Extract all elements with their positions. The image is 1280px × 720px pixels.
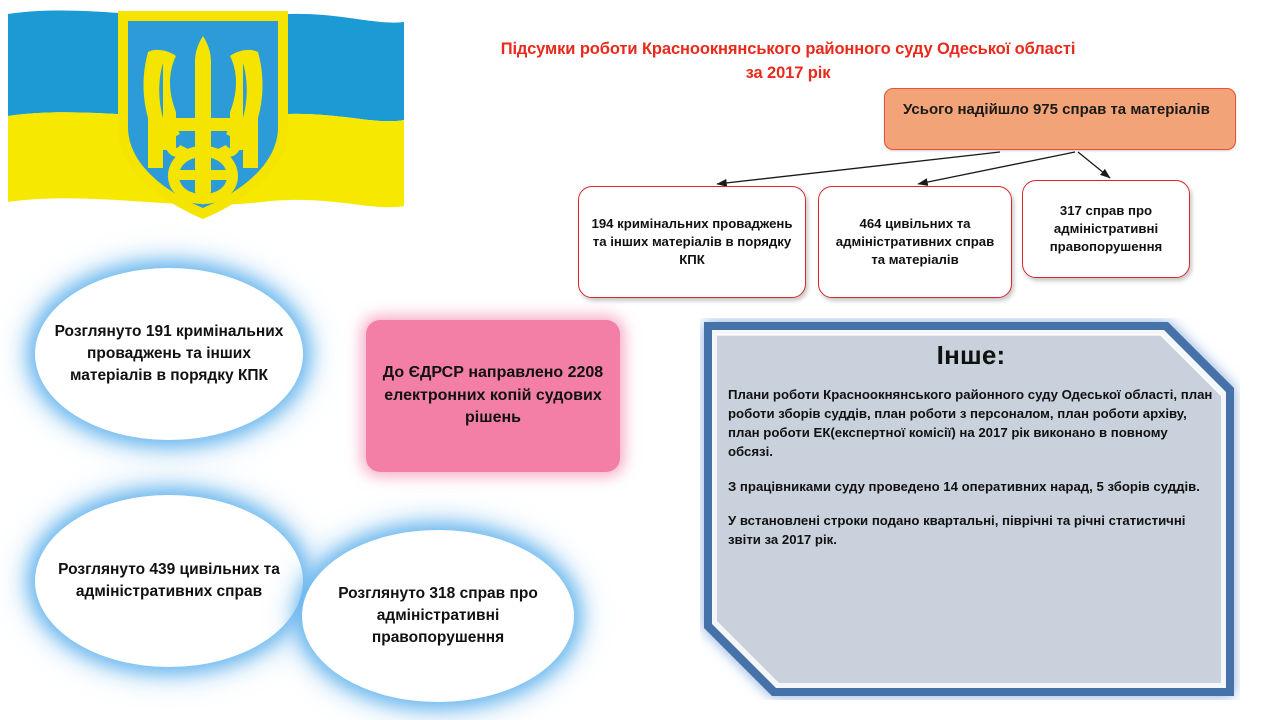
reviewed-ellipse-admin: Розглянуто 318 справ про адміністративні…	[302, 530, 574, 702]
other-panel-heading: Інше:	[728, 340, 1214, 371]
reviewed-ellipse-criminal: Розглянуто 191 кримінальних проваджень т…	[35, 268, 303, 440]
arrow-to-criminal	[717, 152, 1000, 184]
reviewed-ellipse-admin-label: Розглянуто 318 справ про адміністративні…	[318, 583, 558, 648]
reviewed-ellipse-criminal-label: Розглянуто 191 кримінальних проваджень т…	[51, 321, 287, 386]
category-box-civil: 464 цивільних та адміністративних справ …	[818, 186, 1012, 298]
page-title: Підсумки роботи Красноокнянського районн…	[398, 38, 1178, 86]
other-paragraph-2: З працівниками суду проведено 14 операти…	[728, 477, 1214, 496]
category-box-civil-label: 464 цивільних та адміністративних справ …	[828, 215, 1002, 270]
other-paragraph-1: Плани роботи Красноокнянського районного…	[728, 385, 1214, 462]
reviewed-ellipse-civil-label: Розглянуто 439 цивільних та адміністрати…	[51, 559, 287, 602]
category-box-admin-label: 317 справ про адміністративні правопоруш…	[1032, 202, 1180, 257]
reviewed-ellipse-civil: Розглянуто 439 цивільних та адміністрати…	[35, 495, 303, 667]
category-box-criminal: 194 кримінальних проваджень та інших мат…	[578, 186, 806, 298]
page-title-line-1: Підсумки роботи Красноокнянського районн…	[398, 38, 1178, 62]
ukraine-flag-emblem	[0, 0, 410, 225]
page-title-line-2: за 2017 рік	[398, 62, 1178, 86]
edrsr-box: До ЄДРСР направлено 2208 електронних коп…	[366, 320, 620, 472]
other-paragraph-3: У встановлені строки подано квартальні, …	[728, 511, 1214, 549]
other-panel-content: Інше: Плани роботи Красноокнянського рай…	[728, 334, 1214, 682]
arrow-to-admin	[1078, 152, 1110, 178]
edrsr-box-label: До ЄДРСР направлено 2208 електронних коп…	[378, 362, 608, 430]
total-cases-box: Усього надійшло 975 справ та матеріалів	[884, 88, 1236, 150]
category-box-criminal-label: 194 кримінальних проваджень та інших мат…	[588, 215, 796, 270]
other-info-panel: Інше: Плани роботи Красноокнянського рай…	[700, 318, 1240, 700]
flag-graphic	[0, 0, 410, 225]
category-box-admin: 317 справ про адміністративні правопоруш…	[1022, 180, 1190, 278]
